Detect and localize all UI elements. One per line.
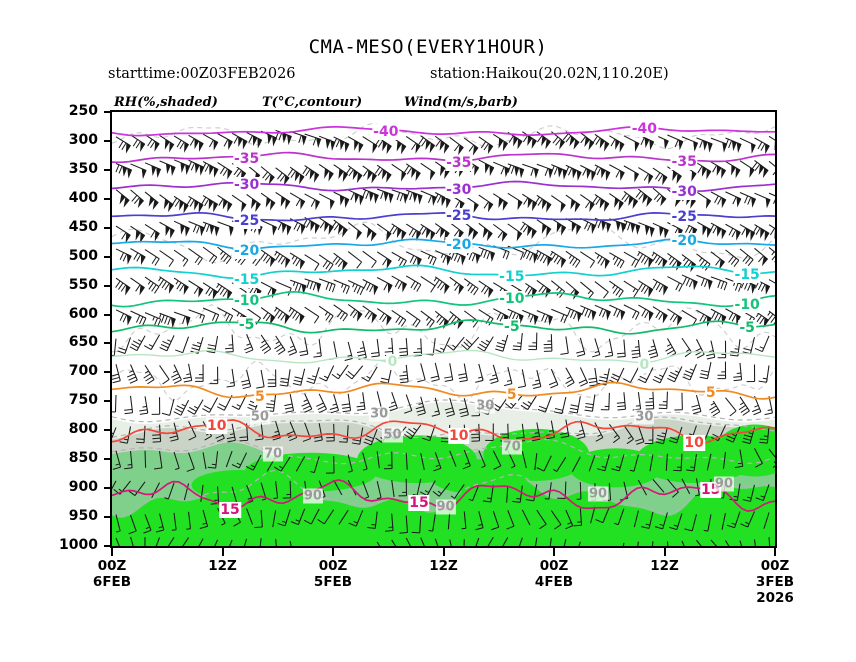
temp-contour-label: 5 (705, 385, 717, 401)
rh-contour-label: 70 (263, 446, 283, 461)
temp-contour-label: -20 (233, 243, 260, 259)
temp-contour-label: 10 (448, 428, 469, 444)
y-axis-label: 700 (52, 363, 98, 379)
temp-contour-label: -20 (445, 237, 472, 253)
temp-contour-label: 15 (408, 495, 429, 511)
x-axis-label: 00Z4FEB (509, 558, 599, 590)
x-label-time: 00Z (730, 558, 820, 574)
x-axis-tick (111, 548, 113, 556)
rh-contour-label: 30 (475, 399, 495, 414)
temp-contour-label: -5 (738, 320, 756, 336)
x-axis-tick (553, 548, 555, 556)
legend-rh: RH(%,shaded) (114, 95, 218, 110)
rh-contour-label: 30 (369, 407, 389, 422)
x-axis-label: 12Z (399, 558, 489, 574)
temp-contour-label: -30 (233, 177, 260, 193)
temp-contour-label: 0 (387, 354, 399, 370)
temp-contour-label: 10 (206, 418, 227, 434)
legend-temperature: T(°C,contour) (262, 95, 362, 110)
temp-contour-label: -30 (445, 182, 472, 198)
rh-contour-label: 90 (303, 489, 323, 504)
y-axis-label: 950 (52, 508, 98, 524)
x-axis-label: 00Z3FEB2026 (730, 558, 820, 606)
chart-root: CMA-MESO(EVERY1HOUR) starttime:00Z03FEB2… (0, 0, 856, 662)
temp-contour-label: -5 (238, 317, 256, 333)
temp-contour-label: 10 (683, 435, 704, 451)
y-axis-label: 800 (52, 421, 98, 437)
temp-contour-label: -30 (671, 184, 698, 200)
temp-contour-label: 0 (639, 357, 651, 373)
y-axis-label: 750 (52, 392, 98, 408)
station-label: station:Haikou(20.02N,110.20E) (430, 66, 669, 82)
y-axis-label: 650 (52, 334, 98, 350)
temp-contour-label: -25 (671, 209, 698, 225)
rh-contour-label: 50 (250, 409, 270, 424)
temp-contour-label: -20 (671, 233, 698, 249)
x-label-time: 00Z (509, 558, 599, 574)
temp-contour-label: -15 (233, 272, 260, 288)
x-label-time: 00Z (67, 558, 157, 574)
y-axis-label: 250 (52, 103, 98, 119)
y-axis-label: 600 (52, 306, 98, 322)
rh-contour-label: 90 (588, 486, 608, 501)
page-title: CMA-MESO(EVERY1HOUR) (0, 36, 856, 58)
temp-contour-label: -35 (233, 151, 260, 167)
x-axis-tick (664, 548, 666, 556)
temp-contour-label: -35 (671, 154, 698, 170)
temp-contour-label: 5 (506, 387, 518, 403)
legend-wind: Wind(m/s,barb) (404, 95, 518, 110)
y-axis-label: 1000 (52, 537, 98, 553)
x-label-time: 12Z (178, 558, 268, 574)
temp-contour-label: 15 (219, 502, 240, 518)
temp-contour-label: -40 (631, 121, 658, 137)
x-label-time: 12Z (620, 558, 710, 574)
x-label-year: 2026 (730, 590, 820, 606)
temp-contour-label: -25 (445, 208, 472, 224)
y-axis-label: 350 (52, 161, 98, 177)
temp-contour-label: -25 (233, 213, 260, 229)
temp-contour-label: -15 (734, 267, 761, 283)
x-label-date: 5FEB (288, 574, 378, 590)
x-label-date: 3FEB (730, 574, 820, 590)
temp-contour-label: -10 (498, 291, 525, 307)
y-axis-label: 450 (52, 219, 98, 235)
x-axis-label: 00Z5FEB (288, 558, 378, 590)
rh-contour-label: 50 (382, 427, 402, 442)
x-axis-tick (332, 548, 334, 556)
x-axis-label: 12Z (620, 558, 710, 574)
rh-contour-label: 70 (502, 440, 522, 455)
y-axis-label: 300 (52, 132, 98, 148)
temp-contour-label: -35 (445, 155, 472, 171)
temp-contour-label: -40 (372, 124, 399, 140)
x-axis-tick (774, 548, 776, 556)
rh-contour-label: 90 (435, 500, 455, 515)
temp-contour-label: -10 (734, 297, 761, 313)
x-label-time: 12Z (399, 558, 489, 574)
y-axis-label: 900 (52, 479, 98, 495)
rh-contour-label: 30 (634, 409, 654, 424)
plot-area: -40-40-35-35-35-30-30-30-25-25-25-20-20-… (110, 110, 777, 548)
x-axis-label: 00Z6FEB (67, 558, 157, 590)
temp-contour-label: 5 (254, 389, 266, 405)
y-axis-label: 500 (52, 248, 98, 264)
y-axis-label: 850 (52, 450, 98, 466)
temp-contour-label: -5 (503, 319, 521, 335)
rh-contour-label: 90 (714, 477, 734, 492)
x-axis-tick (443, 548, 445, 556)
y-axis-label: 550 (52, 277, 98, 293)
x-label-date: 6FEB (67, 574, 157, 590)
temp-contour-label: -10 (233, 293, 260, 309)
x-axis-tick (222, 548, 224, 556)
x-label-date: 4FEB (509, 574, 599, 590)
x-label-time: 00Z (288, 558, 378, 574)
starttime-label: starttime:00Z03FEB2026 (108, 66, 296, 82)
chart-canvas (112, 112, 775, 546)
x-axis-label: 12Z (178, 558, 268, 574)
y-axis-label: 400 (52, 190, 98, 206)
temp-contour-label: -15 (498, 269, 525, 285)
